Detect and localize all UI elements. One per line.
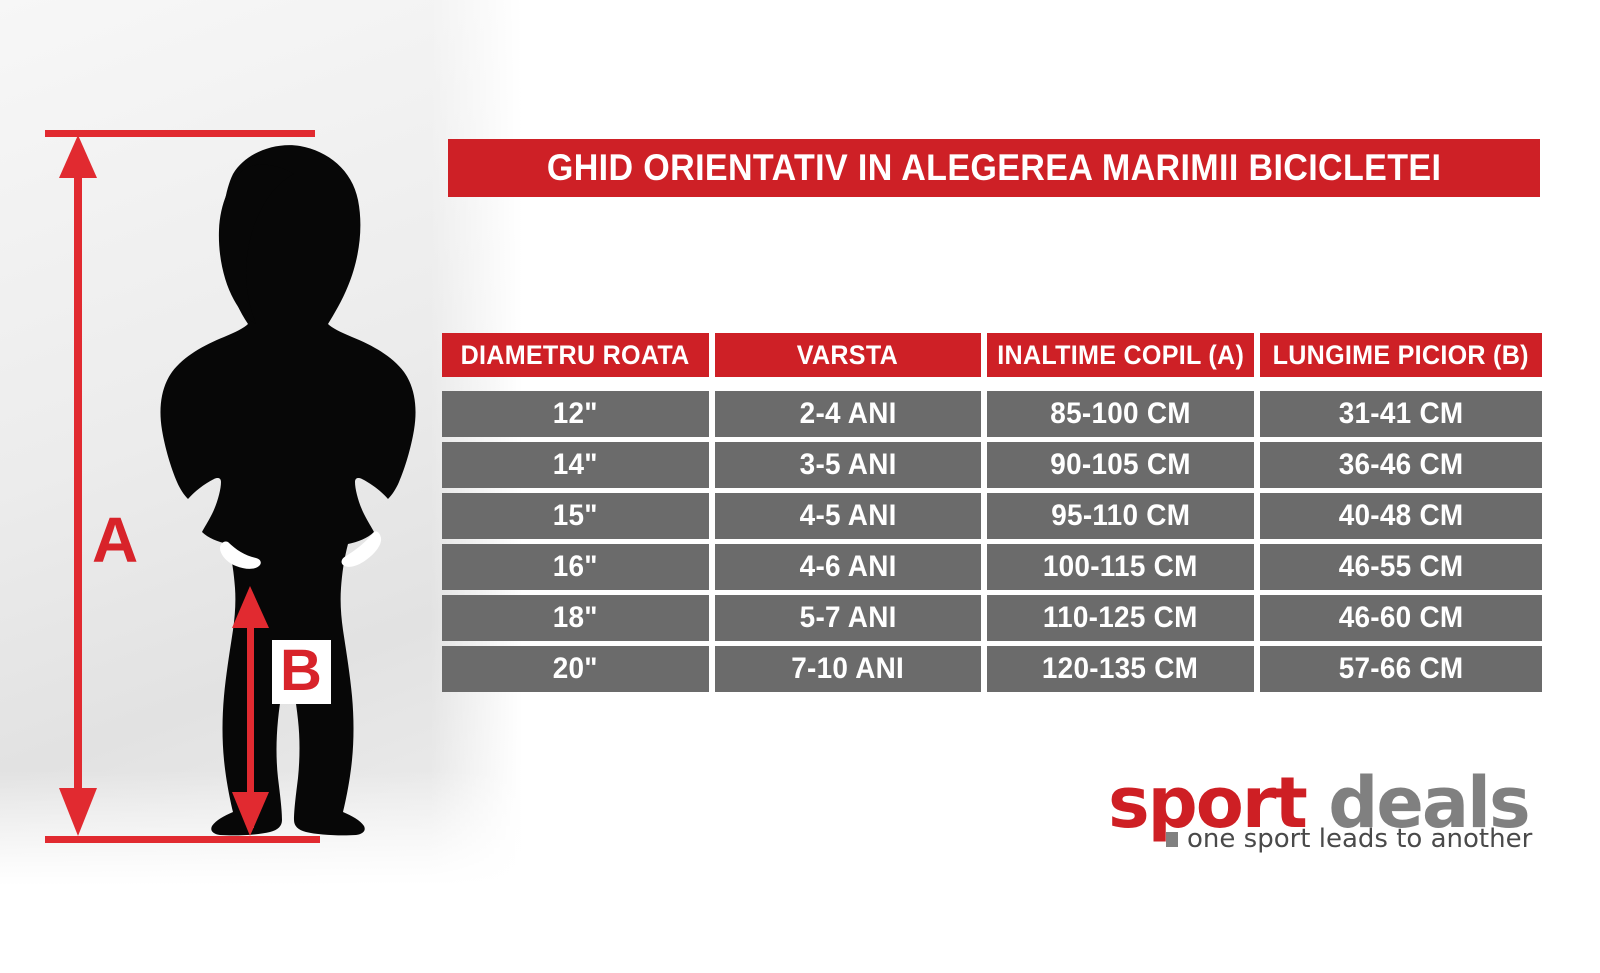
table-header-label: VARSTA <box>797 340 898 371</box>
table-cell-age: 4-6 ANI <box>715 544 982 590</box>
logo-tagline: one sport leads to another <box>1187 826 1532 852</box>
measure-label-b: B <box>272 640 331 704</box>
table-cell-age: 2-4 ANI <box>715 391 982 437</box>
table-cell-age: 3-5 ANI <box>715 442 982 488</box>
table-cell-value: 3-5 ANI <box>799 448 896 482</box>
table-row: 14" 3-5 ANI 90-105 CM 36-46 CM <box>442 442 1542 488</box>
table-cell-value: 14" <box>553 448 598 482</box>
table-cell-child-height: 110-125 CM <box>987 595 1254 641</box>
table-cell-leg-length: 36-46 CM <box>1260 442 1542 488</box>
logo-tagline-row: one sport leads to another <box>1166 826 1532 852</box>
table-cell-value: 2-4 ANI <box>799 397 896 431</box>
table-header-label: DIAMETRU ROATA <box>461 340 690 371</box>
table-header-row: DIAMETRU ROATA VARSTA INALTIME COPIL (A)… <box>442 333 1542 377</box>
table-cell-value: 57-66 CM <box>1338 652 1463 686</box>
table-cell-child-height: 120-135 CM <box>987 646 1254 692</box>
table-cell-leg-length: 46-60 CM <box>1260 595 1542 641</box>
table-cell-value: 5-7 ANI <box>799 601 896 635</box>
top-reference-line <box>45 130 315 137</box>
table-cell-value: 90-105 CM <box>1050 448 1191 482</box>
table-cell-value: 95-110 CM <box>1051 499 1190 533</box>
page-title-bar: GHID ORIENTATIV IN ALEGEREA MARIMII BICI… <box>448 139 1540 197</box>
table-cell-value: 18" <box>553 601 598 635</box>
table-cell-age: 4-5 ANI <box>715 493 982 539</box>
brand-logo: sport deals one sport leads to another <box>1108 768 1548 868</box>
table-cell-wheel-diameter: 12" <box>442 391 709 437</box>
table-cell-child-height: 100-115 CM <box>987 544 1254 590</box>
bottom-reference-line <box>45 836 320 843</box>
table-cell-leg-length: 31-41 CM <box>1260 391 1542 437</box>
table-header-cell-wheel-diameter: DIAMETRU ROATA <box>442 333 709 377</box>
table-cell-wheel-diameter: 14" <box>442 442 709 488</box>
table-cell-wheel-diameter: 15" <box>442 493 709 539</box>
table-cell-wheel-diameter: 18" <box>442 595 709 641</box>
table-header-label: LUNGIME PICIOR (B) <box>1273 340 1529 371</box>
table-cell-value: 36-46 CM <box>1338 448 1463 482</box>
table-cell-value: 40-48 CM <box>1338 499 1463 533</box>
table-cell-leg-length: 40-48 CM <box>1260 493 1542 539</box>
table-row: 12" 2-4 ANI 85-100 CM 31-41 CM <box>442 391 1542 437</box>
measure-arrow-b <box>232 586 269 836</box>
measure-label-a: A <box>92 508 137 572</box>
table-cell-leg-length: 46-55 CM <box>1260 544 1542 590</box>
table-cell-value: 46-60 CM <box>1338 601 1463 635</box>
table-cell-value: 120-135 CM <box>1042 652 1198 686</box>
table-header-cell-age: VARSTA <box>715 333 982 377</box>
table-cell-value: 16" <box>553 550 598 584</box>
measure-arrow-a <box>59 135 97 836</box>
table-row: 18" 5-7 ANI 110-125 CM 46-60 CM <box>442 595 1542 641</box>
table-cell-value: 12" <box>553 397 598 431</box>
table-cell-age: 7-10 ANI <box>715 646 982 692</box>
table-cell-value: 4-6 ANI <box>799 550 896 584</box>
table-cell-value: 20" <box>553 652 598 686</box>
table-cell-child-height: 90-105 CM <box>987 442 1254 488</box>
table-header-cell-leg-length: LUNGIME PICIOR (B) <box>1260 333 1542 377</box>
square-bullet-icon <box>1166 832 1178 847</box>
table-cell-value: 46-55 CM <box>1338 550 1463 584</box>
page-title: GHID ORIENTATIV IN ALEGEREA MARIMII BICI… <box>547 147 1441 189</box>
table-cell-value: 85-100 CM <box>1050 397 1191 431</box>
table-cell-value: 15" <box>553 499 598 533</box>
table-header-label: INALTIME COPIL (A) <box>997 340 1244 371</box>
table-cell-wheel-diameter: 20" <box>442 646 709 692</box>
table-cell-value: 7-10 ANI <box>791 652 904 686</box>
bike-size-table: DIAMETRU ROATA VARSTA INALTIME COPIL (A)… <box>442 333 1542 697</box>
table-cell-value: 4-5 ANI <box>799 499 896 533</box>
table-cell-value: 110-125 CM <box>1043 601 1198 635</box>
table-cell-child-height: 85-100 CM <box>987 391 1254 437</box>
table-row: 15" 4-5 ANI 95-110 CM 40-48 CM <box>442 493 1542 539</box>
table-cell-value: 31-41 CM <box>1338 397 1463 431</box>
table-row: 20" 7-10 ANI 120-135 CM 57-66 CM <box>442 646 1542 692</box>
table-cell-wheel-diameter: 16" <box>442 544 709 590</box>
table-cell-age: 5-7 ANI <box>715 595 982 641</box>
table-cell-child-height: 95-110 CM <box>987 493 1254 539</box>
table-cell-value: 100-115 CM <box>1043 550 1198 584</box>
table-row: 16" 4-6 ANI 100-115 CM 46-55 CM <box>442 544 1542 590</box>
table-header-cell-child-height: INALTIME COPIL (A) <box>987 333 1254 377</box>
table-cell-leg-length: 57-66 CM <box>1260 646 1542 692</box>
